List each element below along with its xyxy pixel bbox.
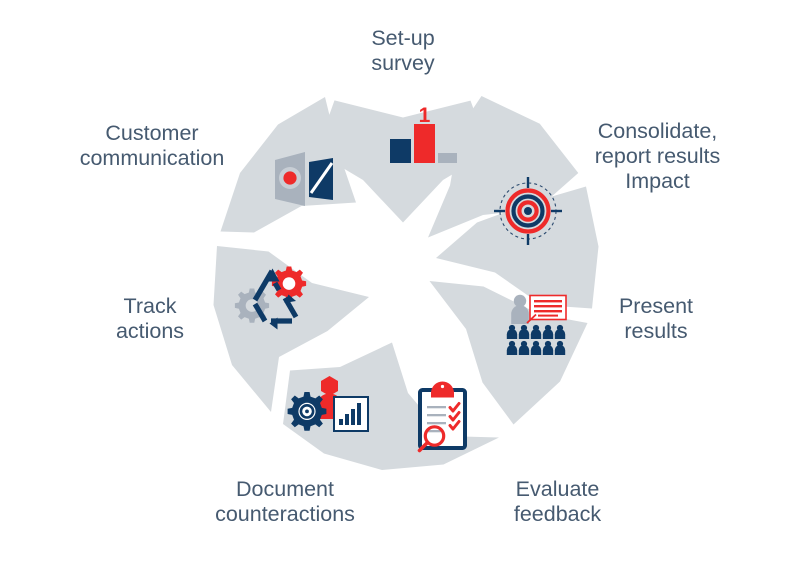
label-track-actions[interactable]: Track actions — [90, 294, 210, 344]
label-document-counteractions[interactable]: Document counteractions — [190, 477, 380, 527]
clipboard-checklist-magnifier-icon — [420, 382, 466, 451]
process-cycle-diagram: 1 — [0, 0, 806, 567]
label-evaluate-feedback[interactable]: Evaluate feedback — [490, 477, 625, 527]
label-consolidate-report-results[interactable]: Consolidate, report results Impact — [570, 119, 745, 194]
label-present-results[interactable]: Present results — [596, 294, 716, 344]
cycle-graphic: 1 — [0, 0, 806, 567]
podium-rank-number: 1 — [419, 104, 431, 127]
label-customer-communication[interactable]: Customer communication — [62, 121, 242, 171]
label-set-up-survey[interactable]: Set-up survey — [318, 26, 488, 76]
open-envelope-icon — [275, 152, 333, 206]
